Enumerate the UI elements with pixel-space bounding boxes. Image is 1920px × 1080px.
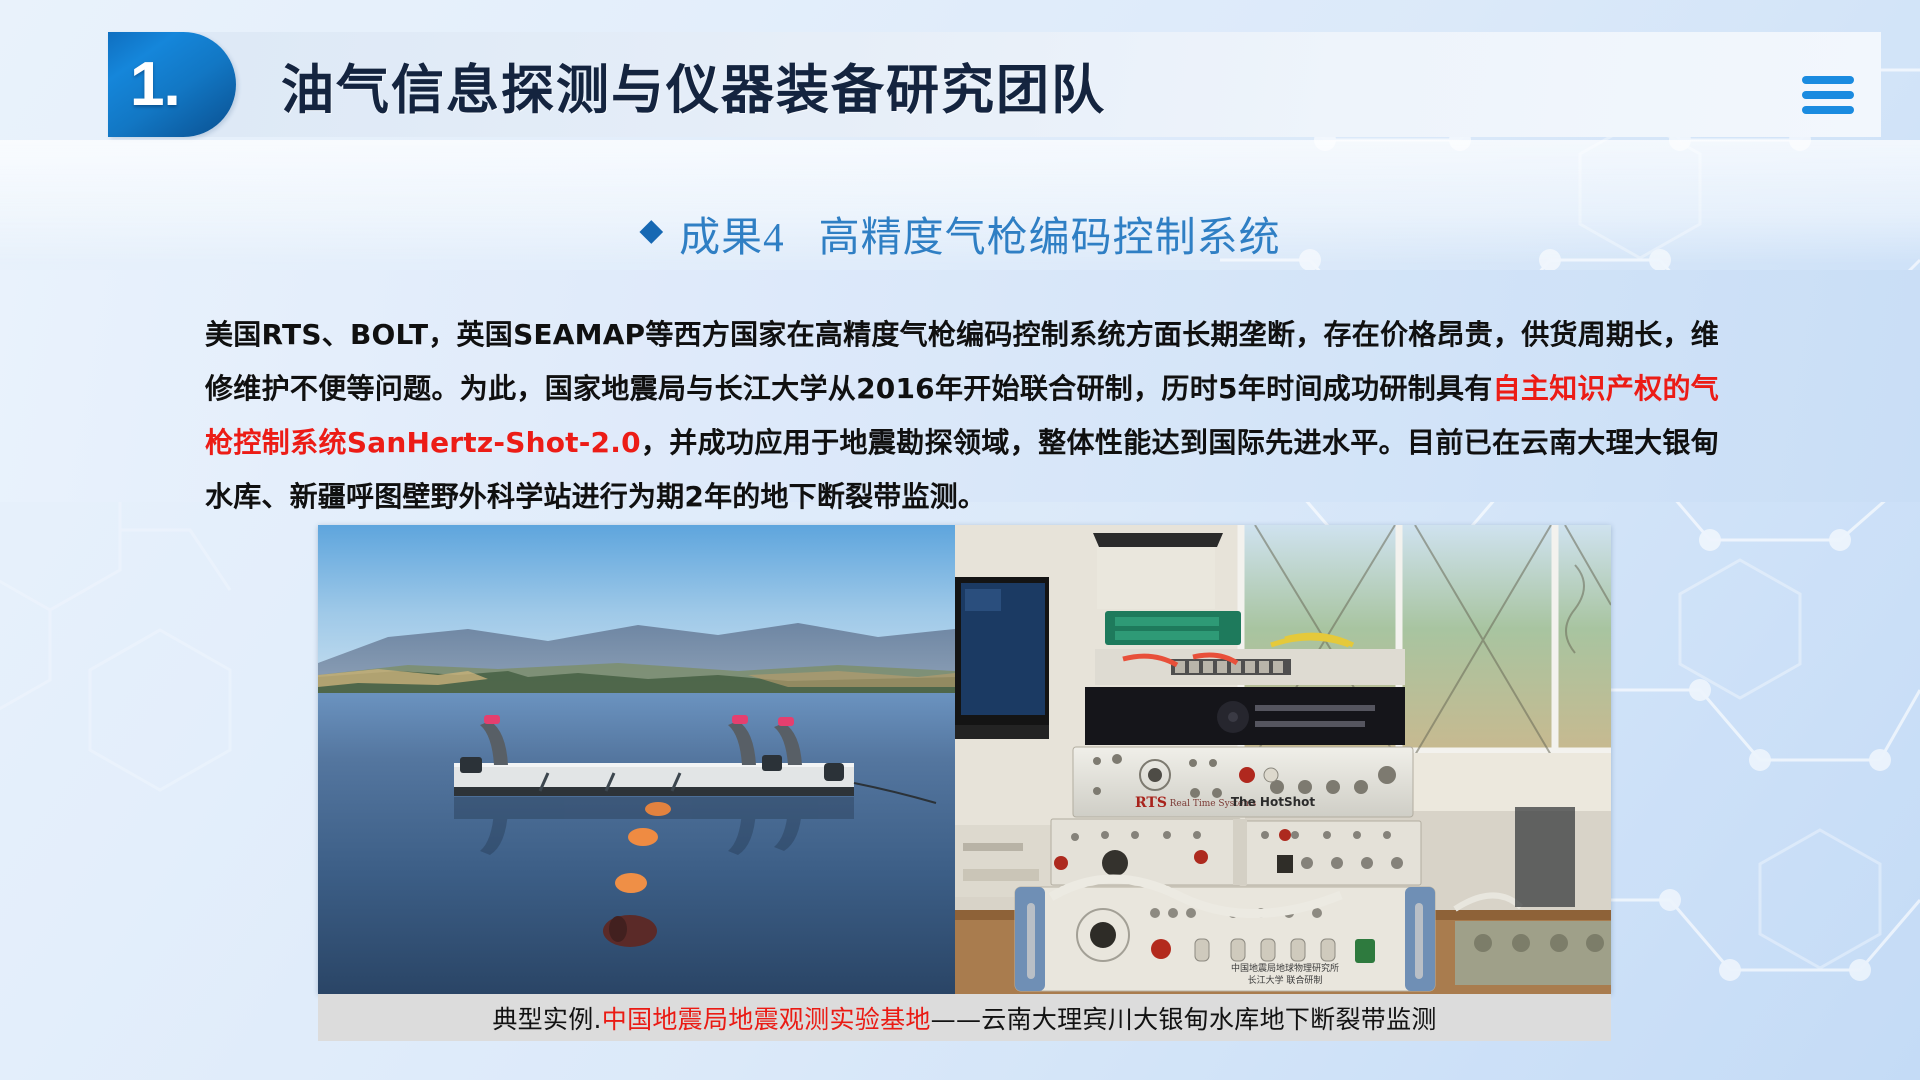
menu-bar-2 [1802,91,1854,99]
svg-text:RTS: RTS [1135,795,1167,811]
caption-text-run-2: ——云南大理宾川大银甸水库地下断裂带监测 [931,1000,1437,1036]
diamond-bullet-icon: ◆ [639,212,663,248]
svg-text:中国地震局地球物理研究所: 中国地震局地球物理研究所 [1231,962,1339,974]
page-title: 油气信息探测与仪器装备研究团队 [281,48,1106,124]
photo-airgun-float-platform [318,525,955,994]
hamburger-menu-icon[interactable] [1802,76,1854,114]
section-number-badge: 1. [108,32,236,137]
section-label: 成果4 [679,214,785,260]
body-paragraph: 美国RTS、BOLT，英国SEAMAP等西方国家在高精度气枪编码控制系统方面长期… [205,308,1719,524]
figure-images: RTS Real Time Systems The HotShot [318,525,1611,994]
section-number: 1. [130,54,180,116]
slide-root: 1. 油气信息探测与仪器装备研究团队 ◆成果4高精度气枪编码控制系统 美国RTS… [0,0,1920,1080]
caption-text-run-1: 中国地震局地震观测实验基地 [602,1000,931,1036]
menu-bar-3 [1802,106,1854,114]
menu-bar-1 [1802,76,1854,84]
section-title: 高精度气枪编码控制系统 [819,214,1281,260]
section-subtitle: ◆成果4高精度气枪编码控制系统 [0,203,1920,263]
svg-text:The HotShot: The HotShot [1231,795,1315,809]
figure-caption: 典型实例. 中国地震局地震观测实验基地——云南大理宾川大银甸水库地下断裂带监测 [318,994,1611,1041]
photo-control-system-rack: RTS Real Time Systems The HotShot [955,525,1611,994]
caption-text-run-0: 典型实例. [492,1000,601,1036]
svg-text:长江大学 联合研制: 长江大学 联合研制 [1248,974,1323,986]
